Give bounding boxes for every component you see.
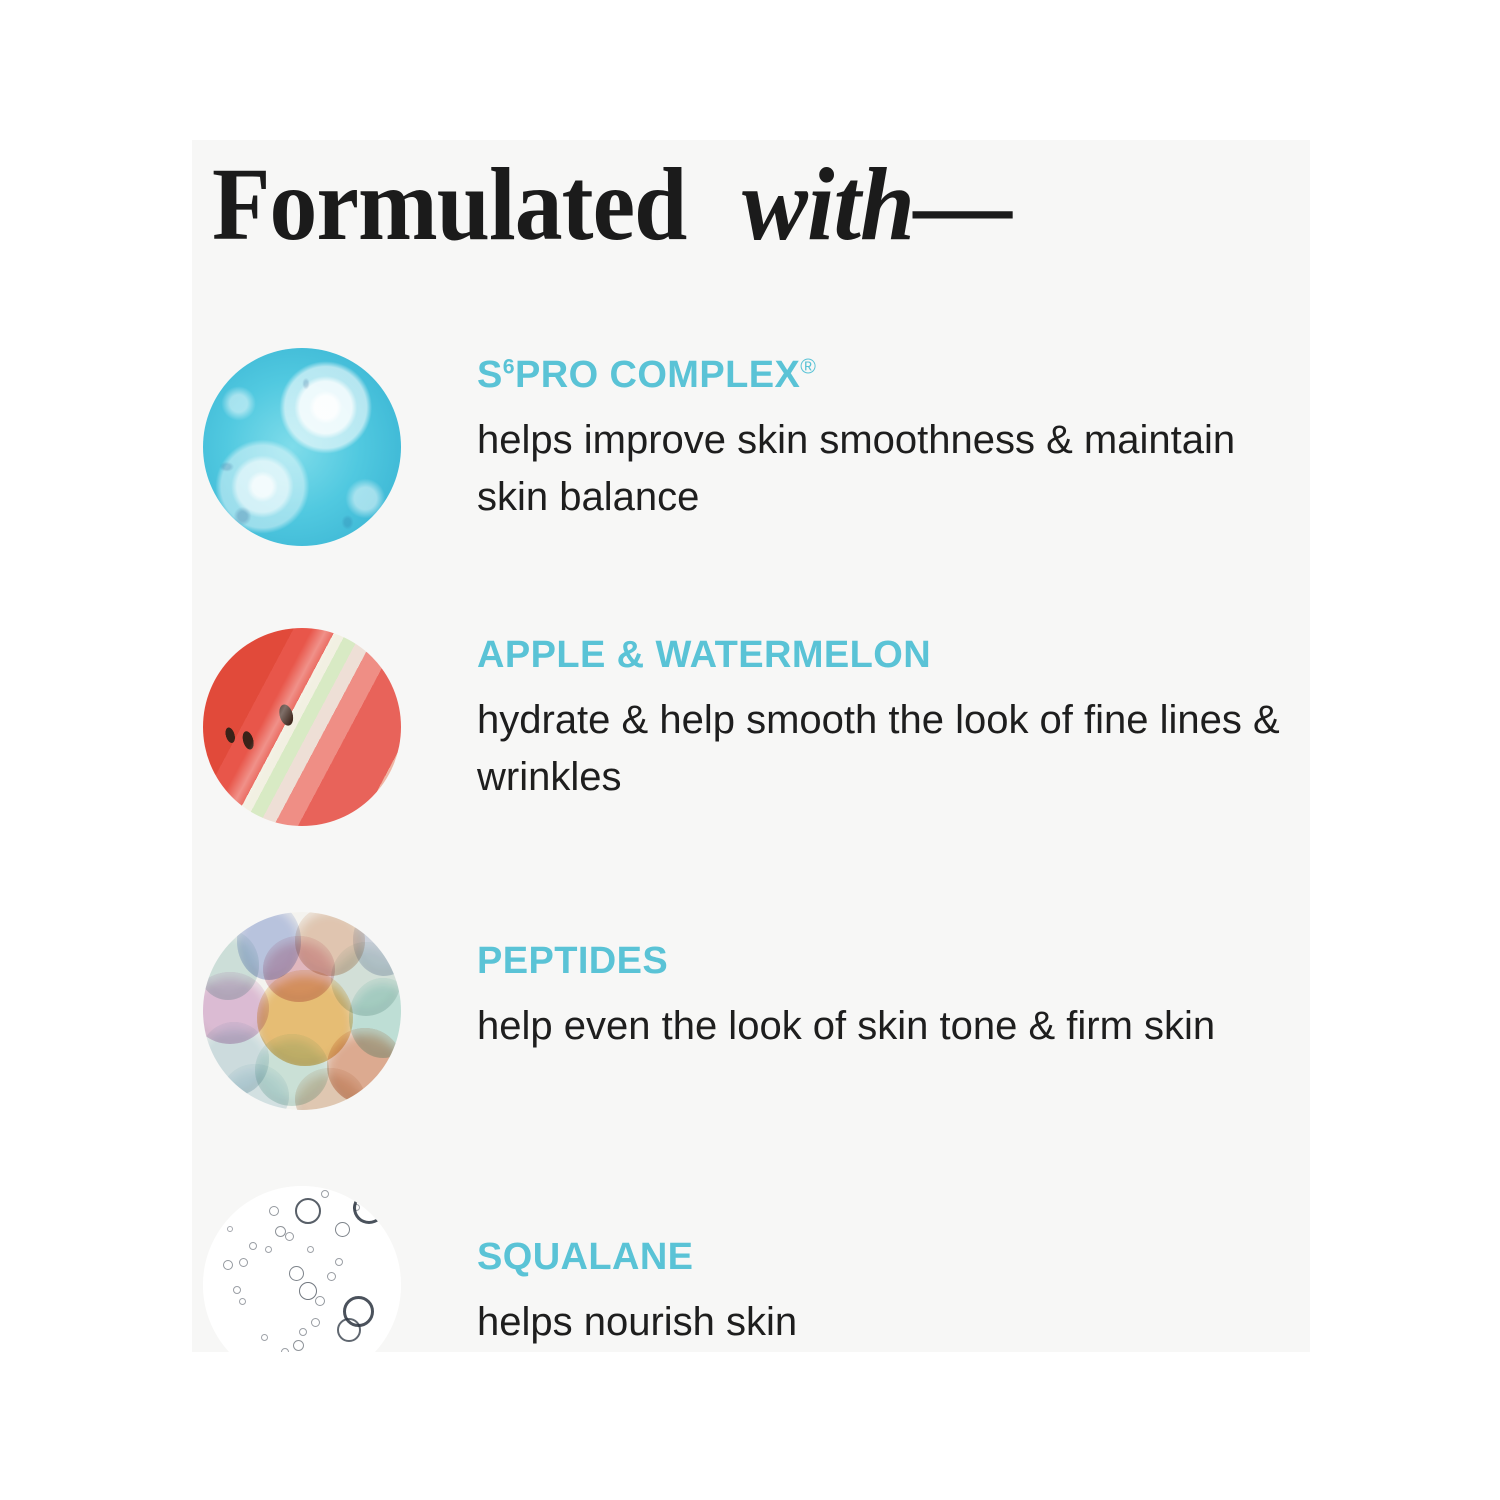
ingredient-text-block: APPLE & WATERMELON hydrate & help smooth…	[477, 636, 1307, 805]
ingredient-text-block: S6PRO COMPLEX® helps improve skin smooth…	[477, 356, 1307, 525]
oil-bubble	[293, 1340, 304, 1351]
oil-bubble	[311, 1318, 320, 1327]
oil-bubble	[249, 1242, 257, 1250]
oil-bubble	[223, 1260, 233, 1270]
oil-bubble	[281, 1348, 289, 1352]
ingredient-name-main: S	[477, 354, 503, 396]
oil-bubble	[261, 1334, 268, 1341]
oil-bubble	[335, 1222, 350, 1237]
pastel-gel-beads-photo-icon	[203, 912, 401, 1110]
oil-bubble	[337, 1318, 361, 1342]
ingredient-text-block: SQUALANE helps nourish skin	[477, 1238, 1307, 1351]
oil-bubble	[239, 1298, 246, 1305]
oil-bubble	[315, 1296, 325, 1306]
ingredient-name-superscript: 6	[503, 354, 515, 378]
registered-trademark-icon: ®	[800, 354, 816, 378]
watermelon-slices-photo-icon	[203, 628, 401, 826]
oil-bubble	[285, 1232, 294, 1241]
ingredient-name: S6PRO COMPLEX®	[477, 356, 1307, 396]
oil-bubble	[239, 1258, 248, 1267]
oil-bubble	[299, 1328, 307, 1336]
ingredient-text-block: PEPTIDES help even the look of skin tone…	[477, 942, 1307, 1055]
oil-bubble	[299, 1282, 317, 1300]
ingredient-description: help even the look of skin tone & firm s…	[477, 998, 1307, 1055]
oil-bubble	[227, 1226, 233, 1232]
ingredient-description: hydrate & help smooth the look of fine l…	[477, 692, 1307, 806]
oil-bubble	[321, 1190, 329, 1198]
oil-bubble	[295, 1198, 321, 1224]
ingredient-name: PEPTIDES	[477, 942, 1307, 982]
oil-bubble	[269, 1206, 279, 1216]
oil-bubble	[265, 1246, 272, 1253]
oil-bubble	[335, 1258, 343, 1266]
ingredient-name: APPLE & WATERMELON	[477, 636, 1307, 676]
ingredient-list: S6PRO COMPLEX® helps improve skin smooth…	[192, 140, 1310, 1352]
formulated-with-panel: Formulatedwith— S6PRO COMPLEX® helps imp…	[192, 140, 1310, 1352]
oil-bubble	[233, 1286, 241, 1294]
oil-bubble	[307, 1246, 314, 1253]
oil-bubble	[327, 1272, 336, 1281]
ingredient-name-rest: PRO COMPLEX	[515, 354, 800, 396]
ingredient-description: helps improve skin smoothness & maintain…	[477, 412, 1307, 526]
oil-bubble	[289, 1266, 304, 1281]
ingredient-name: SQUALANE	[477, 1238, 1307, 1278]
ingredient-description: helps nourish skin	[477, 1294, 1307, 1351]
clear-oil-bubbles-photo-icon	[203, 1186, 401, 1352]
oil-bubble-arc	[353, 1192, 385, 1224]
blue-gel-swirl-swatch-icon	[203, 348, 401, 546]
